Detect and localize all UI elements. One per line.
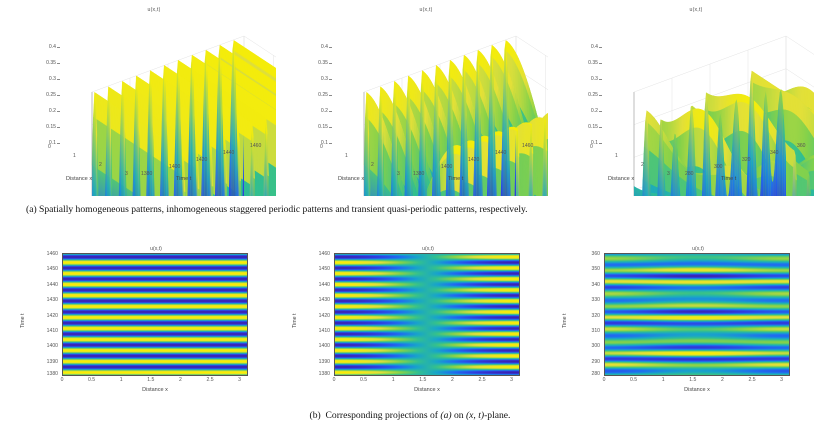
heatmap-panel-1: u(x,t) Time t 1460 1450 1440 1430 1420 1… xyxy=(4,240,276,408)
caption-a-text: (a) Spatially homogeneous patterns, inho… xyxy=(26,204,528,215)
caption-b-label: (b) xyxy=(310,410,321,421)
x-axis-label-1: Distance x xyxy=(62,387,248,393)
heatmap-frame-3 xyxy=(604,253,790,376)
t-axis-label-1: Time t xyxy=(176,176,191,182)
surface-panel-3: u(x,t) 0.4 0.35 0.3 0.25 0.2 0.15 0.1 0 … xyxy=(546,0,814,196)
caption-b: (b) Corresponding projections of (a) on … xyxy=(26,409,794,422)
heatmap-frame-1 xyxy=(62,253,248,376)
y-axis-label-1: Time t xyxy=(20,313,26,328)
y-tick-labels-1: 1460 1450 1440 1430 1420 1410 1400 1390 … xyxy=(30,253,58,376)
t-axis-label-2: Time t xyxy=(448,176,463,182)
heatmap-panel-2: u(x,t) Time t 1460 1450 1440 1430 1420 1… xyxy=(276,240,548,408)
t-axis-label-3: Time t xyxy=(721,176,736,182)
heatmap-panel-3: u(x,t) Time t 360 350 340 330 320 310 30… xyxy=(546,240,814,408)
heatmap-canvas-1 xyxy=(63,254,247,375)
y-axis-label-3: Time t xyxy=(562,313,568,328)
heatmap-canvas-3 xyxy=(605,254,789,375)
y-tick-labels-2: 1460 1450 1440 1430 1420 1410 1400 1390 … xyxy=(302,253,330,376)
surface-panel-2: u(x,t) 0.4 0.35 0.3 0.25 0.2 0.15 0.1 0 … xyxy=(276,0,548,196)
x-tick-labels-1: 0 0.5 1 1.5 2 2.5 3 xyxy=(62,377,248,387)
heatmap-canvas-2 xyxy=(335,254,519,375)
x-axis-label-2: Distance x xyxy=(334,387,520,393)
heatmap-frame-2 xyxy=(334,253,520,376)
z-tick-labels-1: 0.4 0.35 0.3 0.25 0.2 0.15 0.1 xyxy=(16,44,56,140)
x-axis-label-3: Distance x xyxy=(604,387,790,393)
x-tick-labels-2: 0 0.5 1 1.5 2 2.5 3 xyxy=(334,377,520,387)
figure-root: u(x,t) 0.4 0.35 0.3 0.25 0.2 0.15 0.1 0 … xyxy=(0,0,814,442)
caption-a: (a) Spatially homogeneous patterns, inho… xyxy=(26,203,794,216)
y-axis-label-2: Time t xyxy=(292,313,298,328)
axes-title: u(x,t) xyxy=(292,246,564,252)
row-a-surface-plots: u(x,t) 0.4 0.35 0.3 0.25 0.2 0.15 0.1 0 … xyxy=(0,0,814,196)
z-tick-labels-3: 0.4 0.35 0.3 0.25 0.2 0.15 0.1 xyxy=(558,44,598,140)
row-b-heatmaps: u(x,t) Time t 1460 1450 1440 1430 1420 1… xyxy=(0,240,814,408)
x-tick-labels-3: 0 0.5 1 1.5 2 2.5 3 xyxy=(604,377,790,387)
x-axis-label-2: Distance x xyxy=(338,176,364,182)
x-axis-label-3: Distance x xyxy=(608,176,634,182)
z-tick-labels-2: 0.4 0.35 0.3 0.25 0.2 0.15 0.1 xyxy=(288,44,328,140)
axes-title: u(x,t) xyxy=(20,246,292,252)
x-axis-label-1: Distance x xyxy=(66,176,92,182)
surface-panel-1: u(x,t) 0.4 0.35 0.3 0.25 0.2 0.15 0.1 0 … xyxy=(4,0,276,196)
y-tick-labels-3: 360 350 340 330 320 310 300 290 280 xyxy=(572,253,600,376)
